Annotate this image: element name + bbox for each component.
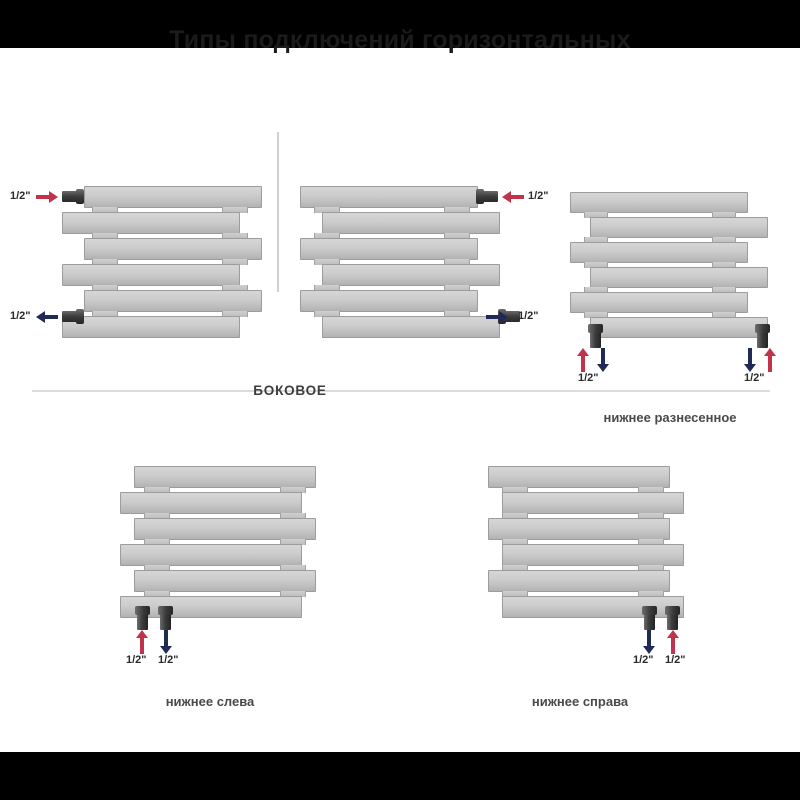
connector-bottom-spread-left: [590, 326, 601, 348]
diagram-page: Типы подключений горизонтальных 1/2": [0, 0, 800, 800]
connector-top-left: [62, 191, 82, 202]
connector-top-right: [478, 191, 498, 202]
radiator-slat: [84, 186, 262, 208]
return-arrow-right-icon: [486, 310, 508, 324]
radiator-side-left: [62, 186, 262, 326]
radiator-slat: [62, 316, 240, 338]
radiator-slat: [120, 544, 302, 566]
radiator-slat: [488, 518, 670, 540]
radiator-slat: [300, 186, 478, 208]
connector-nut: [755, 324, 770, 333]
return-arrow-down-icon: [596, 348, 610, 372]
supply-arrow-up-icon: [135, 630, 149, 654]
return-arrow-down-icon: [159, 630, 173, 654]
connector-bottom-spread-right: [757, 326, 768, 348]
supply-arrow-up-icon: [576, 348, 590, 372]
size-label-bottom-right-a: 1/2": [633, 654, 654, 666]
radiator-slat: [488, 570, 670, 592]
caption-bottom-left: нижнее слева: [125, 694, 295, 709]
radiator-slat: [300, 238, 478, 260]
radiator-slat: [120, 492, 302, 514]
connector-nut: [135, 606, 150, 615]
radiator-slat: [590, 317, 768, 338]
supply-arrow-up-icon: [666, 630, 680, 654]
size-label-bottom-left-a: 1/2": [126, 654, 147, 666]
radiator-slat: [134, 466, 316, 488]
return-arrow-left-icon: [36, 310, 58, 324]
radiator-slat: [502, 492, 684, 514]
radiator-slat: [322, 316, 500, 338]
supply-arrow-up-icon: [763, 348, 777, 372]
connector-nut: [158, 606, 173, 615]
radiator-slat: [62, 264, 240, 286]
size-label-top-left: 1/2": [10, 190, 31, 202]
connector-bottom-left-a: [137, 608, 148, 630]
horizontal-divider: [32, 390, 770, 392]
radiator-slat: [570, 292, 748, 313]
radiator-slat: [134, 518, 316, 540]
radiator-slat: [502, 544, 684, 566]
radiator-bottom-spread: [570, 192, 770, 332]
radiator-side-right: [300, 186, 500, 326]
connector-nut: [476, 189, 484, 204]
radiator-slat: [322, 264, 500, 286]
radiator-slat: [84, 238, 262, 260]
radiator-slat: [322, 212, 500, 234]
page-title: Типы подключений горизонтальных: [0, 26, 800, 55]
return-arrow-down-icon: [642, 630, 656, 654]
size-label-bottom-right-b: 1/2": [665, 654, 686, 666]
size-label-top-right: 1/2": [528, 190, 549, 202]
connector-nut: [76, 189, 84, 204]
radiator-slat: [84, 290, 262, 312]
return-arrow-down-icon: [743, 348, 757, 372]
connector-nut: [665, 606, 680, 615]
connector-bottom-right-a: [644, 608, 655, 630]
radiator-slat: [570, 242, 748, 263]
size-label-bottom-left: 1/2": [10, 310, 31, 322]
radiator-slat: [590, 267, 768, 288]
radiator-bottom-left: [120, 466, 330, 606]
caption-bottom-spread: нижнее разнесенное: [570, 410, 770, 425]
radiator-bottom-right: [488, 466, 698, 606]
connector-nut: [642, 606, 657, 615]
connector-nut: [76, 309, 84, 324]
connector-nut: [588, 324, 603, 333]
size-label-bottom-spread-left: 1/2": [578, 372, 599, 384]
size-label-bottom-right: 1/2": [518, 310, 539, 322]
radiator-slat: [570, 192, 748, 213]
supply-arrow-left-icon: [502, 190, 524, 204]
radiator-slat: [62, 212, 240, 234]
caption-bottom-right: нижнее справа: [490, 694, 670, 709]
radiator-slat: [590, 217, 768, 238]
connector-bottom-left-b: [160, 608, 171, 630]
size-label-bottom-left-b: 1/2": [158, 654, 179, 666]
caption-side: БОКОВОЕ: [200, 383, 380, 398]
size-label-bottom-spread-right: 1/2": [744, 372, 765, 384]
supply-arrow-right-icon: [36, 190, 58, 204]
radiator-slat: [134, 570, 316, 592]
radiator-slat: [488, 466, 670, 488]
connector-bottom-left: [62, 311, 82, 322]
vertical-divider: [277, 132, 279, 292]
radiator-slat: [300, 290, 478, 312]
connector-bottom-right-b: [667, 608, 678, 630]
diagram-canvas: [0, 48, 800, 752]
